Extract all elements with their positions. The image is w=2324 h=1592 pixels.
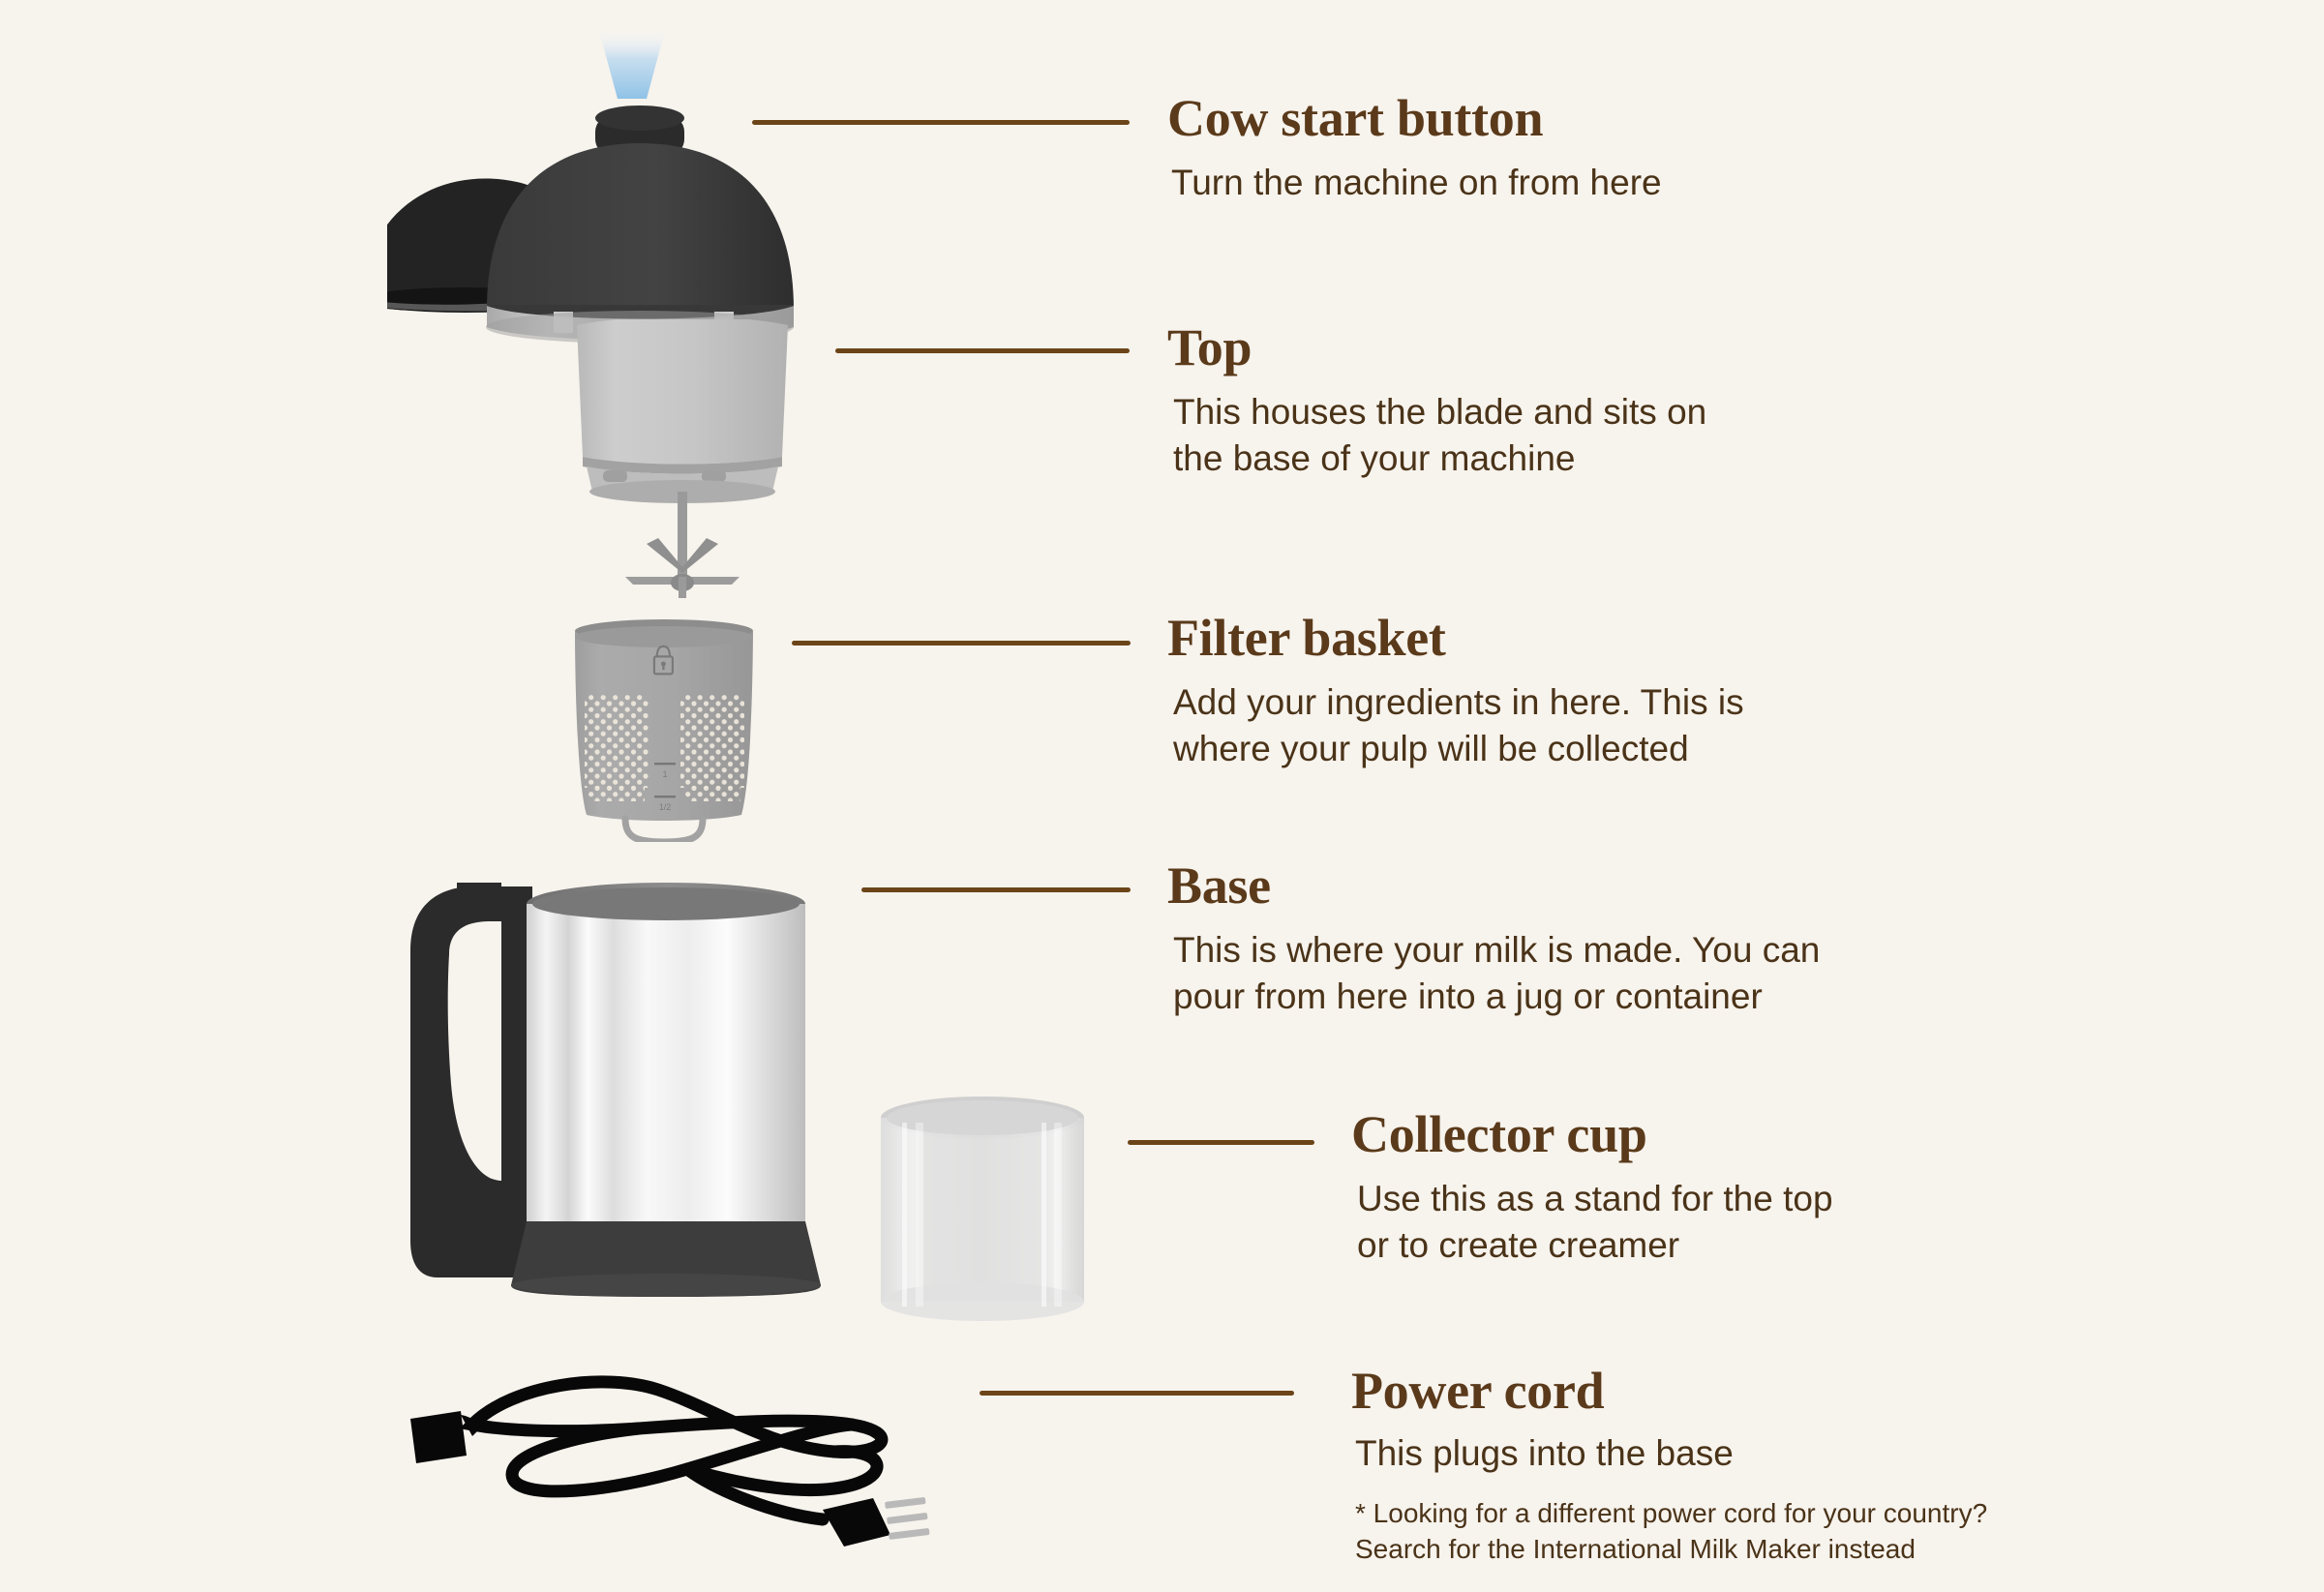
callout-title-collector-cup: Collector cup bbox=[1351, 1108, 1833, 1160]
callout-description-top-line1: This houses the blade and sits on bbox=[1173, 389, 1706, 436]
pitcher-plinth bbox=[511, 1221, 821, 1297]
callout-collector-cup: Collector cup Use this as a stand for th… bbox=[1351, 1108, 1833, 1269]
callout-description-filter-basket-line1: Add your ingredients in here. This is bbox=[1173, 679, 1744, 726]
callout-base: Base This is where your milk is made. Yo… bbox=[1167, 859, 1820, 1020]
callout-description-cow-start-button: Turn the machine on from here bbox=[1171, 160, 1662, 206]
illustration-top-body bbox=[542, 319, 832, 600]
illustration-power-cord bbox=[397, 1355, 987, 1558]
callout-power-cord: Power cord This plugs into the base * Lo… bbox=[1351, 1365, 1987, 1568]
leader-line-collector-cup bbox=[1128, 1140, 1314, 1145]
illustration-base-pitcher bbox=[387, 861, 842, 1297]
callout-title-filter-basket: Filter basket bbox=[1167, 612, 1744, 664]
callout-note-power-cord-line1: * Looking for a different power cord for… bbox=[1355, 1496, 1987, 1532]
start-button-light-beam bbox=[598, 27, 666, 99]
callout-note-power-cord-line2: Search for the International Milk Maker … bbox=[1355, 1532, 1987, 1568]
lid-dome bbox=[486, 105, 794, 344]
callout-description-power-cord: This plugs into the base bbox=[1355, 1430, 1987, 1477]
callout-description-top-line2: the base of your machine bbox=[1173, 436, 1706, 482]
illustration-filter-basket: 1 1/2 bbox=[552, 610, 774, 842]
callout-title-cow-start-button: Cow start button bbox=[1167, 92, 1662, 144]
leader-line-filter-basket bbox=[792, 641, 1131, 646]
diagram-page: 1 1/2 bbox=[0, 0, 2324, 1592]
svg-text:1/2: 1/2 bbox=[659, 802, 672, 812]
callout-description-base-line2: pour from here into a jug or container bbox=[1173, 974, 1820, 1020]
pitcher-handle bbox=[410, 883, 532, 1277]
callout-description-base-line1: This is where your milk is made. You can bbox=[1173, 927, 1820, 974]
leader-line-top bbox=[835, 348, 1130, 353]
svg-text:1: 1 bbox=[662, 769, 667, 779]
callout-cow-start-button: Cow start button Turn the machine on fro… bbox=[1167, 92, 1662, 206]
leader-line-base bbox=[861, 887, 1131, 892]
callout-description-collector-cup-line2: or to create creamer bbox=[1357, 1222, 1833, 1269]
leader-line-power-cord bbox=[980, 1391, 1294, 1396]
pitcher-body bbox=[527, 883, 805, 1233]
callout-title-top: Top bbox=[1167, 321, 1706, 374]
callout-top: Top This houses the blade and sits on th… bbox=[1167, 321, 1706, 482]
callout-filter-basket: Filter basket Add your ingredients in he… bbox=[1167, 612, 1744, 772]
callout-title-base: Base bbox=[1167, 859, 1820, 912]
cord-socket-connector bbox=[410, 1411, 480, 1463]
cord-plug bbox=[823, 1497, 930, 1547]
callout-title-power-cord: Power cord bbox=[1351, 1365, 1987, 1417]
illustration-collector-cup bbox=[861, 1084, 1103, 1326]
callout-description-collector-cup-line1: Use this as a stand for the top bbox=[1357, 1176, 1833, 1222]
callout-description-filter-basket-line2: where your pulp will be collected bbox=[1173, 726, 1744, 772]
leader-line-cow-start-button bbox=[752, 120, 1130, 125]
